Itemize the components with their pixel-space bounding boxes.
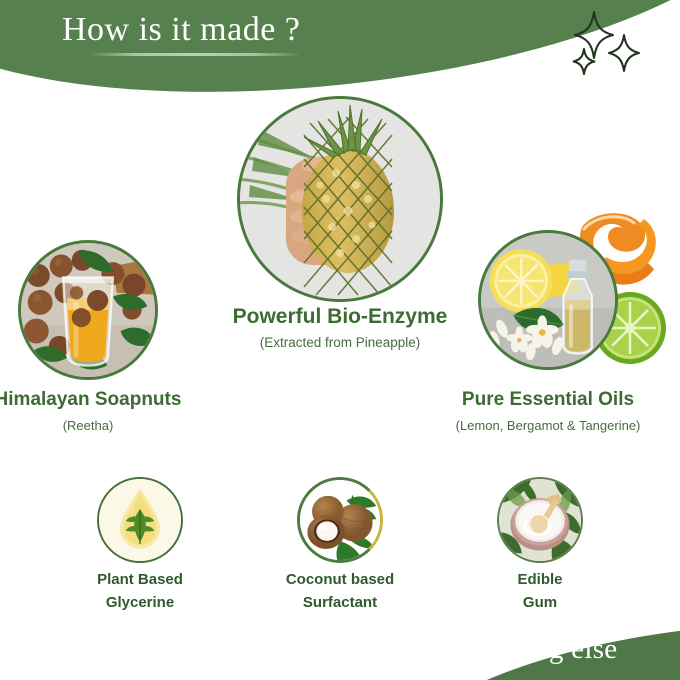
caption-glycerine: Plant Based Glycerine <box>45 569 235 614</box>
bio-enzyme-label: Powerful Bio-Enzyme <box>163 304 517 329</box>
coconut-label-line1: Coconut based <box>245 569 435 592</box>
infographic-canvas: How is it made ? <box>0 0 680 680</box>
soapnuts-label: Himalayan Soapnuts <box>0 389 198 412</box>
caption-essential-oils: Pure Essential Oils (Lemon, Bergamot & T… <box>407 389 680 434</box>
caption-edible-gum: Edible Gum <box>445 569 635 614</box>
bio-enzyme-source: (Extracted from Pineapple) <box>163 335 517 352</box>
glycerine-droplet-icon <box>97 477 183 563</box>
essential-oils-source: (Lemon, Bergamot & Tangerine) <box>407 418 680 434</box>
caption-coconut: Coconut based Surfactant <box>245 569 435 614</box>
gum-label-line1: Edible <box>445 569 635 592</box>
gum-label-line2: Gum <box>445 592 635 615</box>
essential-oils-label: Pure Essential Oils <box>407 389 680 412</box>
sparkles-icon <box>560 8 646 80</box>
glycerine-label-line1: Plant Based <box>45 569 235 592</box>
caption-soapnuts: Himalayan Soapnuts (Reetha) <box>0 389 198 434</box>
title-underline-flourish <box>88 53 301 56</box>
edible-gum-photo <box>497 477 583 563</box>
soapnuts-photo <box>18 240 158 380</box>
page-title: How is it made ? <box>62 10 402 49</box>
soapnuts-source: (Reetha) <box>0 418 198 434</box>
pineapple-photo <box>237 96 443 302</box>
coconut-photo <box>297 477 383 563</box>
caption-bio-enzyme: Powerful Bio-Enzyme (Extracted from Pine… <box>163 304 517 352</box>
coconut-label-line2: Surfactant <box>245 592 435 615</box>
glycerine-label-line2: Glycerine <box>45 592 235 615</box>
footer-tagline: & nothing else <box>400 633 660 666</box>
